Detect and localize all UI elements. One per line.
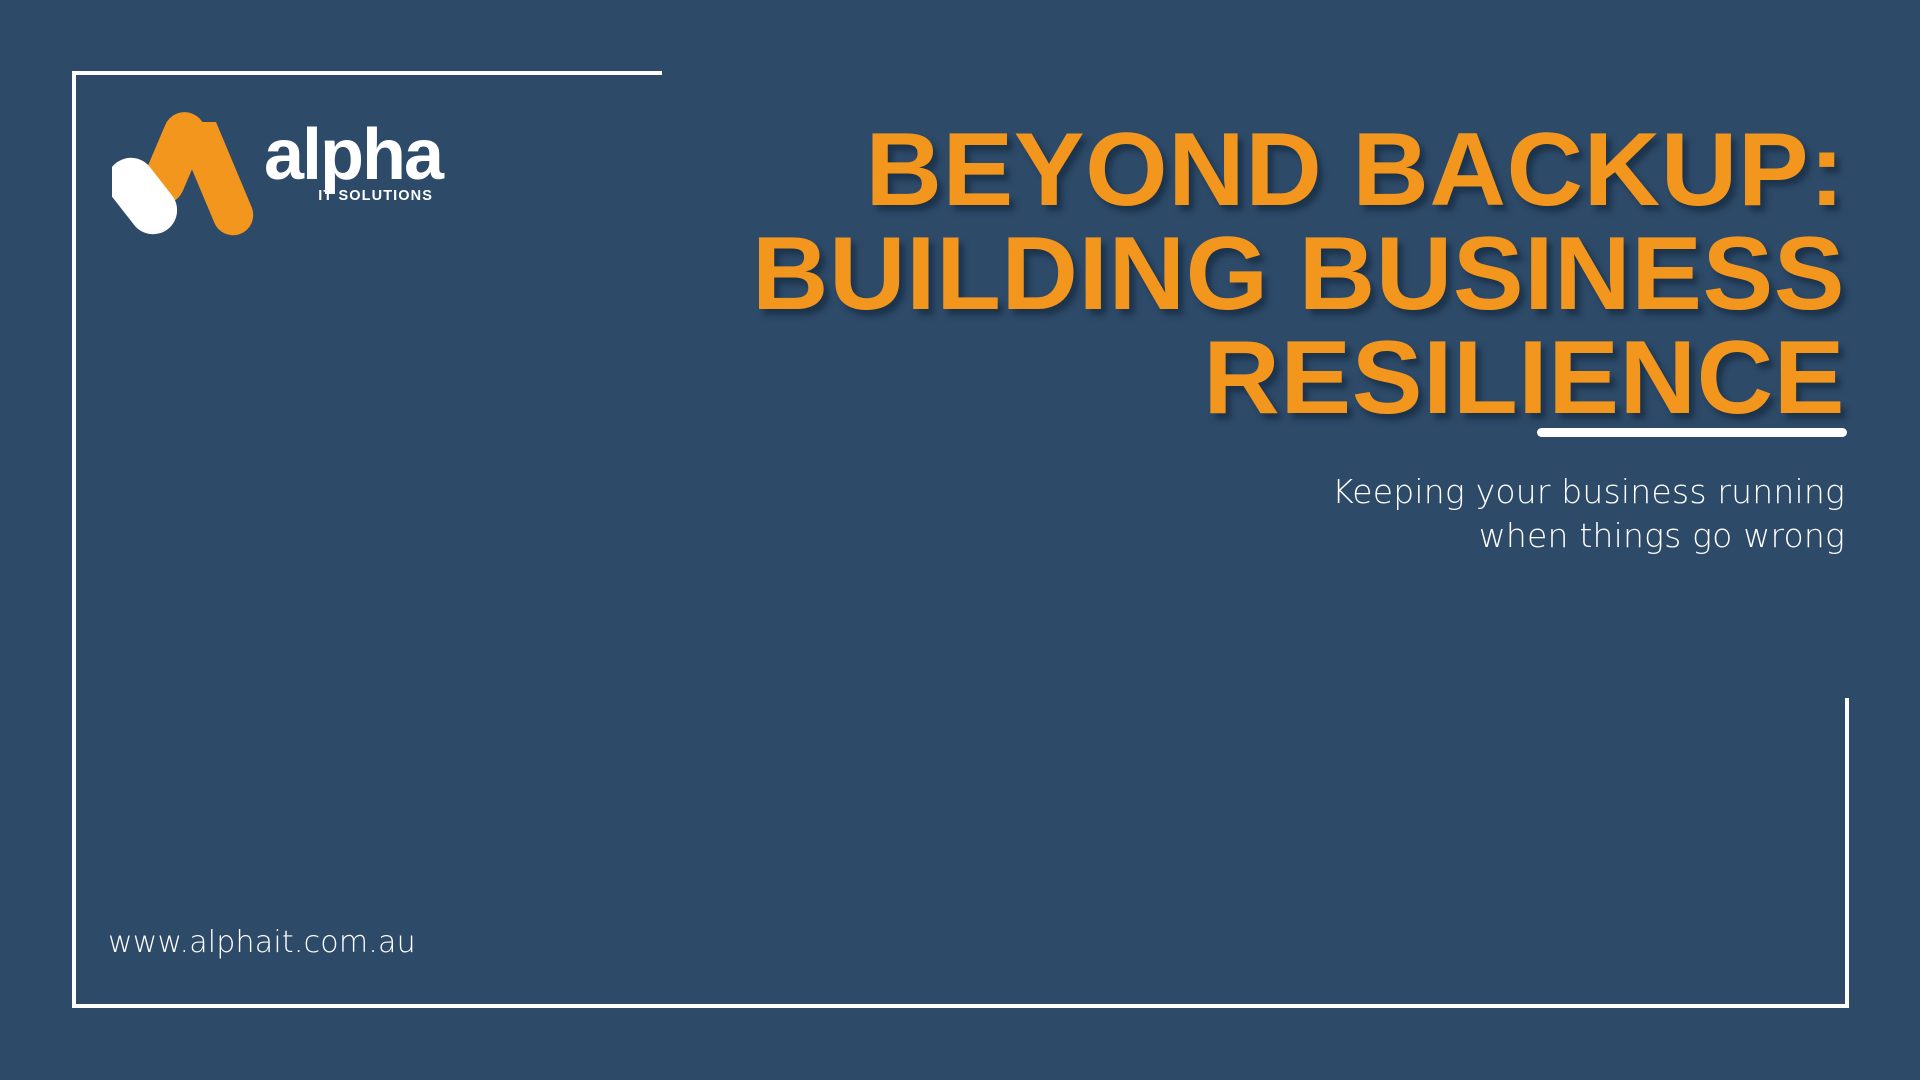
title-slide: alpha IT SOLUTIONS BEYOND BACKUP: BUILDI… <box>0 0 1920 1080</box>
alpha-a-mark-icon <box>112 104 260 236</box>
frame-top-rule <box>72 71 662 75</box>
frame-left-rule <box>72 71 76 1008</box>
headline-line-1: BEYOND BACKUP: <box>590 118 1845 222</box>
headline-accent-rule <box>1537 428 1847 437</box>
brand-wordmark: alpha IT SOLUTIONS <box>264 126 434 204</box>
frame-bottom-rule <box>72 1004 1849 1008</box>
website-url: www.alphait.com.au <box>108 925 416 960</box>
headline-line-3: RESILIENCE <box>590 326 1845 430</box>
page-subtitle: Keeping your business running when thing… <box>1085 470 1845 557</box>
subtitle-line-2: when things go wrong <box>1085 514 1845 558</box>
frame-right-rule <box>1845 698 1849 1008</box>
brand-name: alpha <box>264 126 434 185</box>
brand-logo: alpha IT SOLUTIONS <box>112 104 432 236</box>
headline-line-2: BUILDING BUSINESS <box>590 222 1845 326</box>
subtitle-line-1: Keeping your business running <box>1085 470 1845 514</box>
page-title: BEYOND BACKUP: BUILDING BUSINESS RESILIE… <box>590 118 1845 430</box>
